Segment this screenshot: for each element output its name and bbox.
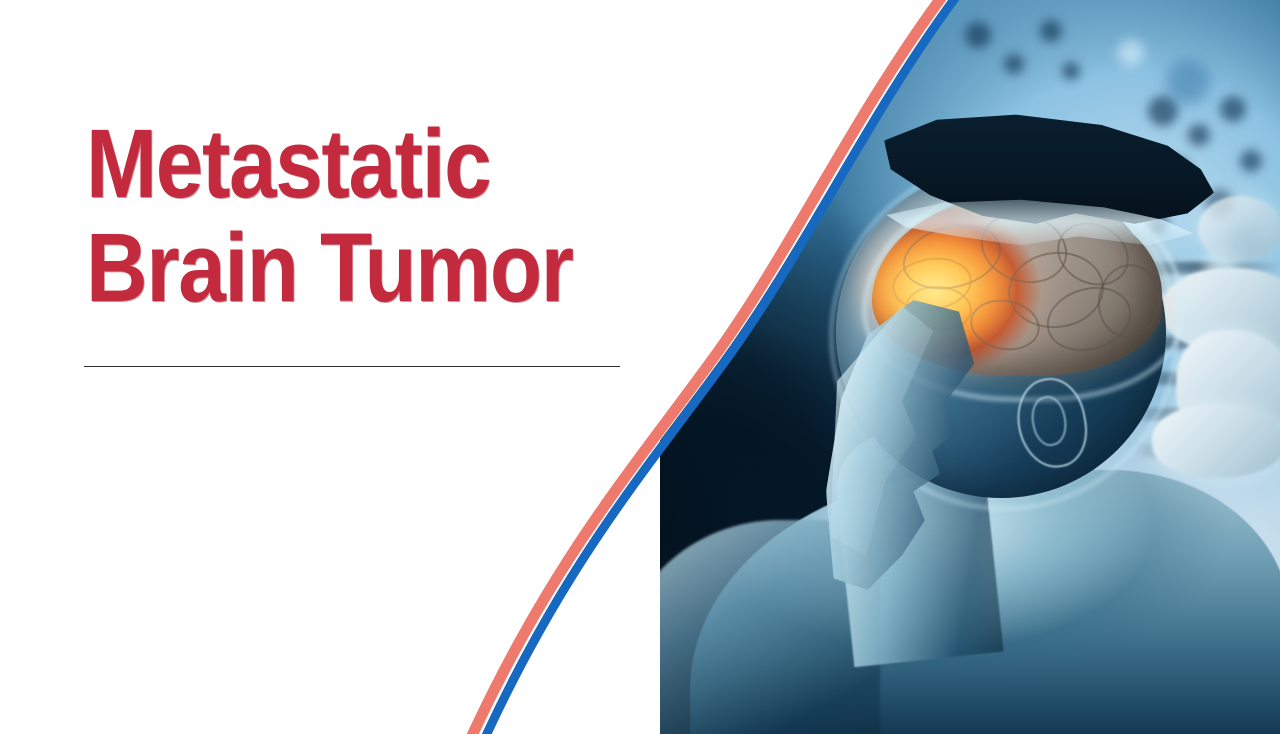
title-line-one: Metastatic [86, 112, 579, 216]
page-title: Metastatic Brain Tumor [86, 112, 646, 320]
bone-structure [1198, 196, 1280, 262]
title-line-two: Brain Tumor [86, 216, 579, 320]
bone-structure [1152, 404, 1280, 478]
title-underline-rule [84, 366, 620, 367]
banner-root: Metastatic Brain Tumor [0, 0, 1280, 734]
